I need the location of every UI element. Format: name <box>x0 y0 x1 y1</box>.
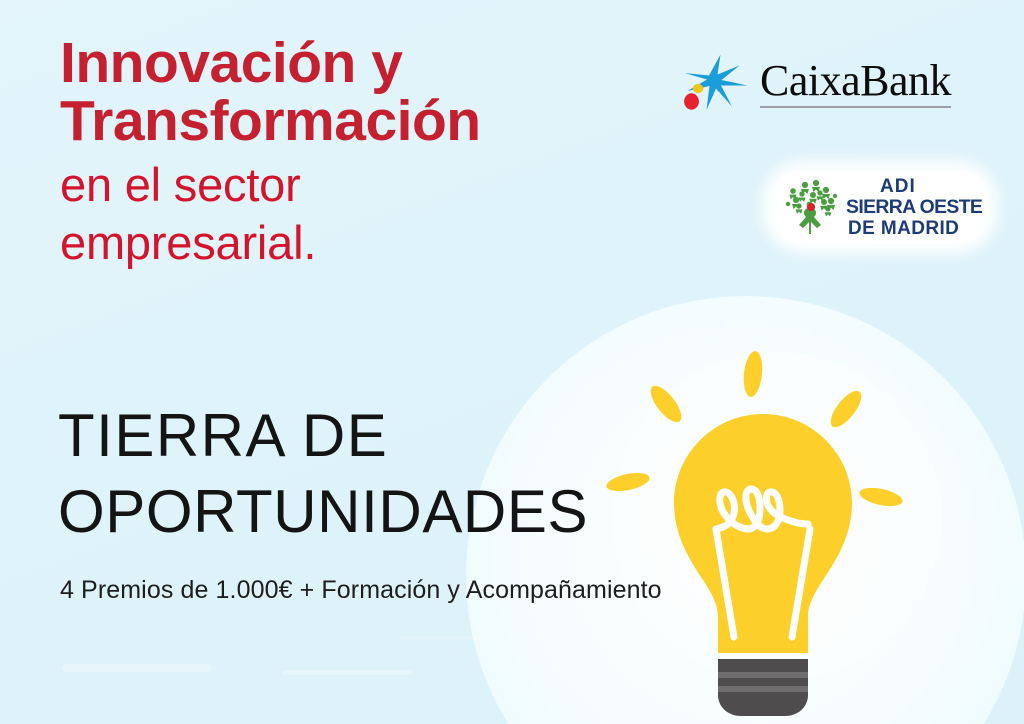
main-title-line-2: OPORTUNIDADES <box>58 474 588 550</box>
lightbulb-icon <box>598 334 928 724</box>
adi-tree-icon <box>780 174 842 240</box>
headline-line-1: Innovación y <box>60 34 620 92</box>
caixabank-star-icon <box>676 52 750 114</box>
background-artifact-2 <box>282 670 412 675</box>
caixabank-logo: CaixaBank <box>676 52 951 114</box>
caixabank-underline <box>760 106 951 108</box>
headline-line-2: Transformación <box>60 92 620 150</box>
adi-berry-icon <box>807 203 815 211</box>
adi-line-1: ADI <box>880 177 980 196</box>
adi-line-2: SIERRA OESTE <box>846 198 982 217</box>
headline-block: Innovación y Transformación en el sector… <box>60 34 620 272</box>
headline-line-3: en el sector <box>60 156 620 214</box>
headline-line-4: empresarial. <box>60 214 620 272</box>
adi-line-3: DE MADRID <box>848 219 980 238</box>
main-title-block: TIERRA DE OPORTUNIDADES <box>58 398 588 550</box>
caixabank-wordmark: CaixaBank <box>760 58 951 104</box>
poster-canvas: Innovación y Transformación en el sector… <box>0 0 1024 724</box>
background-artifact-3 <box>400 636 480 640</box>
lightbulb-illustration <box>598 334 928 724</box>
lightbulb-base <box>718 659 808 716</box>
main-subtitle: 4 Premios de 1.000€ + Formación y Acompa… <box>60 576 662 605</box>
background-artifact-1 <box>62 664 212 672</box>
adi-wordmark: ADI SIERRA OESTE DE MADRID <box>846 177 980 238</box>
adi-sierra-oeste-logo: ADI SIERRA OESTE DE MADRID <box>772 170 988 244</box>
caixabank-wordmark-wrap: CaixaBank <box>760 58 951 108</box>
lightbulb-glass <box>674 414 852 653</box>
main-title-line-1: TIERRA DE <box>58 398 588 474</box>
